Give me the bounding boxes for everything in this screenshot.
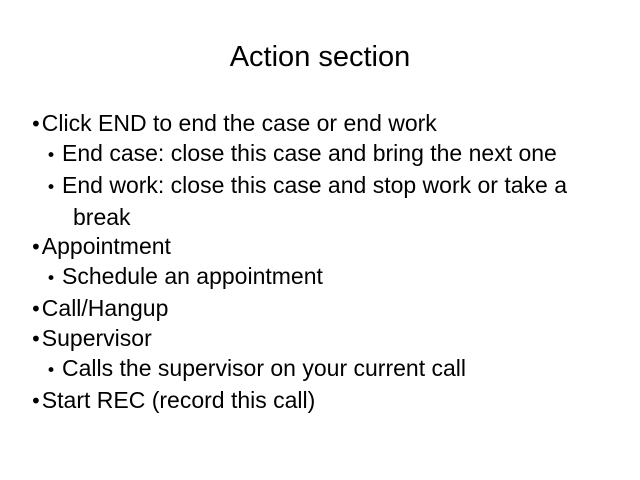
bullet-dot-icon: •: [46, 361, 56, 381]
bullet-item-level2: •Schedule an appointment: [46, 262, 612, 294]
bullet-dot-icon: •: [30, 389, 42, 413]
presentation-slide: Action section •Click END to end the cas…: [0, 0, 640, 480]
bullet-item-level1: •Appointment: [30, 232, 612, 262]
bullet-item-text: Start REC (record this call): [42, 387, 316, 413]
bullet-item-level1: •Start REC (record this call): [30, 386, 612, 416]
page-title: Action section: [0, 40, 640, 74]
bullet-item-text: Schedule an appointment: [62, 263, 323, 289]
bullet-item-text: Calls the supervisor on your current cal…: [62, 355, 466, 381]
bullet-dot-icon: •: [30, 297, 42, 321]
bullet-item-level1: •Click END to end the case or end work: [30, 109, 612, 139]
bullet-item-text: End case: close this case and bring the …: [62, 140, 557, 166]
bullet-item-text: Click END to end the case or end work: [42, 110, 437, 136]
bullet-dot-icon: •: [46, 146, 56, 166]
bullet-dot-icon: •: [46, 269, 56, 289]
bullet-item-text: Call/Hangup: [42, 295, 169, 321]
bullet-dot-icon: •: [30, 112, 42, 136]
bullet-item-level2: •End case: close this case and bring the…: [46, 139, 612, 171]
bullet-item-level1: •Supervisor: [30, 324, 612, 354]
bullet-dot-icon: •: [30, 235, 42, 259]
bullet-item-text: End work: close this case and stop work …: [62, 172, 567, 230]
bullet-item-text: Supervisor: [42, 325, 152, 351]
bullet-item-level2: •Calls the supervisor on your current ca…: [46, 354, 612, 386]
bullet-item-text: Appointment: [42, 233, 171, 259]
slide-body-content: •Click END to end the case or end work •…: [30, 109, 612, 416]
bullet-dot-icon: •: [30, 327, 42, 351]
bullet-item-level1: •Call/Hangup: [30, 294, 612, 324]
bullet-dot-icon: •: [46, 178, 56, 198]
bullet-item-level2: •End work: close this case and stop work…: [46, 171, 612, 232]
